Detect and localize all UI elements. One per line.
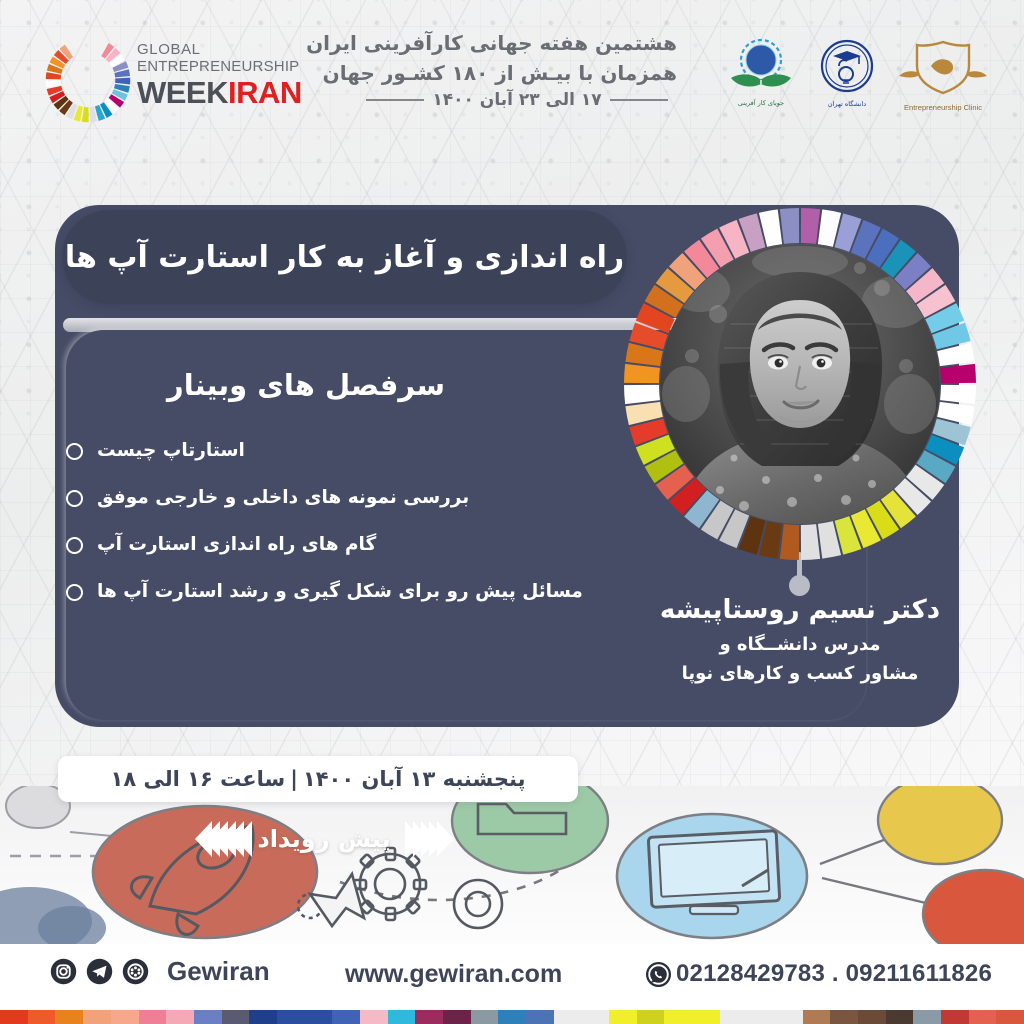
ring-segment bbox=[801, 208, 820, 244]
webinar-title: راه اندازی و آغاز به کار استارت آپ ها bbox=[65, 240, 624, 275]
color-strip-segment bbox=[194, 1010, 222, 1024]
pre-event-label: پیش رویداد bbox=[247, 825, 400, 853]
color-strip-segment bbox=[415, 1010, 443, 1024]
website-url[interactable]: www.gewiran.com bbox=[345, 960, 562, 989]
color-strip-segment bbox=[471, 1010, 499, 1024]
color-strip-segment bbox=[554, 1010, 582, 1024]
bottom-illustration bbox=[0, 786, 1024, 946]
speaker-photo-wrap bbox=[624, 208, 976, 560]
color-strip-segment bbox=[581, 1010, 609, 1024]
topic-item: بررسی نمونه های داخلی و خارجی موفق bbox=[60, 487, 546, 509]
ring-segment bbox=[46, 80, 61, 87]
topics-heading: سرفصل های وبینار bbox=[66, 368, 546, 402]
schedule-day-date: پنجشنبه ۱۳ آبان ۱۴۰۰ bbox=[303, 767, 526, 791]
color-strip-segment bbox=[747, 1010, 775, 1024]
gew-line-global: GLOBAL bbox=[137, 42, 302, 58]
book-globe-icon bbox=[725, 36, 797, 100]
cursor-arrow-icon bbox=[310, 874, 364, 926]
topic-item: مسائل پیش رو برای شکل گیری و رشد استارت … bbox=[60, 581, 546, 603]
gew-line-entrepreneurship: ENTREPRENEURSHIP bbox=[137, 58, 302, 75]
ring-segment bbox=[940, 364, 976, 383]
brand-handle[interactable]: Gewiran bbox=[167, 956, 270, 987]
bullet-circle-icon bbox=[66, 537, 83, 554]
color-strip-segment bbox=[664, 1010, 692, 1024]
topic-label: استارتاپ چیست bbox=[97, 440, 245, 462]
chevron-right-icon bbox=[405, 821, 422, 857]
header-rule-right bbox=[366, 99, 424, 101]
red-node-icon bbox=[923, 870, 1024, 946]
color-strip-segment bbox=[249, 1010, 277, 1024]
color-strip-segment bbox=[637, 1010, 665, 1024]
color-strip-segment bbox=[720, 1010, 748, 1024]
footer-color-strip bbox=[0, 1010, 1024, 1024]
speaker-name: دکتر نسیم روستاپیشه bbox=[612, 594, 988, 626]
university-seal-icon bbox=[815, 36, 879, 100]
partner-caption-clinic: Entrepreneurship Clinic bbox=[897, 103, 989, 112]
speaker-role-line-2: مشاور کسب و کارهای نوپا bbox=[612, 660, 988, 688]
avatar bbox=[660, 244, 940, 524]
header-date-row: ۱۷ الی ۲۳ آبان ۱۴۰۰ bbox=[357, 90, 677, 110]
instagram-icon[interactable] bbox=[50, 958, 77, 985]
partner-caption-university: دانشگاه تهران bbox=[815, 100, 879, 108]
ring-segment bbox=[624, 364, 660, 383]
color-strip-segment bbox=[222, 1010, 250, 1024]
header-line-2: همزمان با بیـش از ۱۸۰ کشـور جهان bbox=[357, 58, 677, 88]
gew-iran-text: IRAN bbox=[228, 75, 302, 110]
partner-logo-entrepreneurship-clinic[interactable]: Entrepreneurship Clinic bbox=[897, 36, 989, 112]
color-strip-segment bbox=[858, 1010, 886, 1024]
partner-caption-work: جویای کار آفرینی bbox=[725, 99, 797, 107]
color-strip-segment bbox=[886, 1010, 914, 1024]
telegram-icon[interactable] bbox=[86, 958, 113, 985]
schedule-separator: | bbox=[285, 767, 303, 791]
color-strip-segment bbox=[277, 1010, 305, 1024]
schedule-bar: پنجشنبه ۱۳ آبان ۱۴۰۰ | ساعت ۱۶ الی ۱۸ bbox=[58, 756, 578, 802]
bullet-circle-icon bbox=[66, 443, 83, 460]
color-strip-segment bbox=[969, 1010, 997, 1024]
pin-knob-icon bbox=[789, 575, 810, 596]
color-strip-segment bbox=[166, 1010, 194, 1024]
color-strip-segment bbox=[83, 1010, 111, 1024]
topic-item: استارتاپ چیست bbox=[60, 440, 546, 462]
monitor-icon bbox=[617, 814, 807, 938]
color-strip-segment bbox=[55, 1010, 83, 1024]
color-strip-segment bbox=[305, 1010, 333, 1024]
topic-label: بررسی نمونه های داخلی و خارجی موفق bbox=[97, 487, 469, 509]
color-strip-segment bbox=[28, 1010, 56, 1024]
partner-logo-work-entrepreneurship[interactable]: جویای کار آفرینی bbox=[725, 36, 797, 107]
bullet-circle-icon bbox=[66, 584, 83, 601]
yellow-node-icon bbox=[878, 786, 1002, 864]
whatsapp-icon[interactable] bbox=[645, 961, 672, 988]
gew-wordmark: GLOBAL ENTREPRENEURSHIP WEEKIRAN bbox=[137, 42, 302, 110]
color-strip-segment bbox=[443, 1010, 471, 1024]
color-strip-segment bbox=[996, 1010, 1024, 1024]
ring-segment bbox=[624, 385, 660, 404]
header-date-range: ۱۷ الی ۲۳ آبان ۱۴۰۰ bbox=[432, 90, 601, 110]
color-strip-segment bbox=[332, 1010, 360, 1024]
color-strip-segment bbox=[139, 1010, 167, 1024]
chevrons-left-group bbox=[195, 821, 243, 857]
social-links: Gewiran bbox=[50, 956, 270, 987]
ring-segment bbox=[780, 524, 799, 560]
ring-segment bbox=[801, 524, 820, 560]
chevrons-right-group bbox=[405, 821, 445, 857]
header-line-1: هشتمین هفته جهانی کارآفرینی ایران bbox=[357, 28, 677, 58]
bottom-art-svg bbox=[0, 786, 1024, 946]
aparat-icon[interactable] bbox=[122, 958, 149, 985]
topic-item: گام های راه اندازی استارت آپ bbox=[60, 534, 546, 556]
header-rule-left bbox=[610, 99, 668, 101]
phone-contact: 02128429783 . 09211611826 bbox=[645, 960, 992, 988]
bullet-circle-icon bbox=[66, 490, 83, 507]
ring-segment bbox=[115, 78, 130, 85]
color-strip-segment bbox=[0, 1010, 28, 1024]
color-strip-segment bbox=[388, 1010, 416, 1024]
speaker-info: دکتر نسیم روستاپیشه مدرس دانشــگاه و مشا… bbox=[612, 594, 988, 688]
color-strip-segment bbox=[111, 1010, 139, 1024]
color-strip-segment bbox=[941, 1010, 969, 1024]
color-strip-segment bbox=[360, 1010, 388, 1024]
gew-ring-icon bbox=[44, 36, 132, 124]
topic-label: گام های راه اندازی استارت آپ bbox=[97, 534, 376, 556]
speaker-role-line-1: مدرس دانشــگاه و bbox=[612, 630, 988, 660]
pre-event-ribbon: پیش رویداد bbox=[120, 812, 520, 866]
topic-label: مسائل پیش رو برای شکل گیری و رشد استارت … bbox=[97, 581, 583, 603]
ring-segment bbox=[82, 107, 89, 122]
partner-logos: Entrepreneurship Clinic دانشگاه تهران bbox=[725, 36, 989, 112]
phone-numbers[interactable]: 02128429783 . 09211611826 bbox=[676, 960, 992, 988]
color-strip-segment bbox=[775, 1010, 803, 1024]
gew-line-week-iran: WEEKIRAN bbox=[137, 76, 302, 110]
topics-list: استارتاپ چیست بررسی نمونه های داخلی و خا… bbox=[60, 440, 546, 628]
portrait-speaker-image bbox=[660, 244, 940, 524]
poster-root: GLOBAL ENTREPRENEURSHIP WEEKIRAN هشتمین … bbox=[0, 0, 1024, 1024]
gew-logo[interactable]: GLOBAL ENTREPRENEURSHIP WEEKIRAN bbox=[44, 34, 294, 128]
header: GLOBAL ENTREPRENEURSHIP WEEKIRAN هشتمین … bbox=[0, 0, 1024, 140]
ring-segment bbox=[940, 385, 976, 404]
shield-wings-icon bbox=[897, 36, 989, 102]
color-strip-segment bbox=[498, 1010, 526, 1024]
cloud-icon bbox=[0, 887, 106, 946]
color-strip-segment bbox=[913, 1010, 941, 1024]
gew-week-text: WEEK bbox=[137, 75, 228, 110]
color-strip-segment bbox=[526, 1010, 554, 1024]
color-strip-segment bbox=[830, 1010, 858, 1024]
color-strip-segment bbox=[692, 1010, 720, 1024]
header-tagline: هشتمین هفته جهانی کارآفرینی ایران همزمان… bbox=[357, 28, 677, 110]
color-strip-segment bbox=[803, 1010, 831, 1024]
webinar-title-pill: راه اندازی و آغاز به کار استارت آپ ها bbox=[62, 210, 627, 304]
ring-segment bbox=[780, 208, 799, 244]
partner-logo-university[interactable]: دانشگاه تهران bbox=[815, 36, 879, 108]
schedule-time: ساعت ۱۶ الی ۱۸ bbox=[111, 767, 286, 791]
color-strip-segment bbox=[609, 1010, 637, 1024]
chevron-left-icon bbox=[195, 821, 212, 857]
